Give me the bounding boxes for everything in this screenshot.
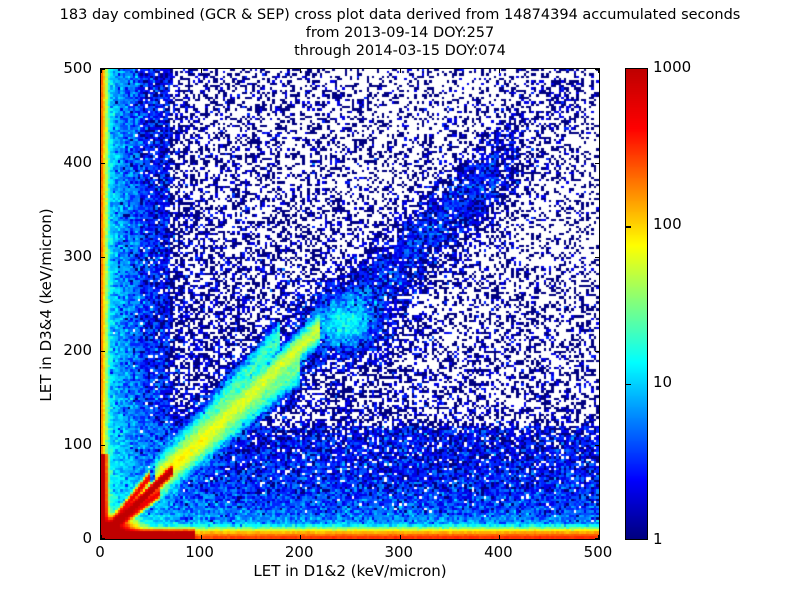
- colorbar-tick-label-1: 1: [653, 530, 663, 548]
- y-tick-right-300: [595, 257, 599, 258]
- y-tick-500: [101, 69, 105, 70]
- colorbar-tick-label-100: 100: [653, 215, 682, 233]
- colorbar-tick-10: [626, 384, 631, 385]
- figure-canvas: 183 day combined (GCR & SEP) cross plot …: [0, 0, 800, 600]
- x-tick-300: [400, 535, 401, 539]
- x-tick-top-200: [300, 69, 301, 73]
- x-tick-top-400: [499, 69, 500, 73]
- y-tick-0: [101, 538, 105, 539]
- y-tick-right-200: [595, 351, 599, 352]
- colorbar-tick-label-10: 10: [653, 373, 672, 391]
- colorbar-gradient: [626, 69, 647, 539]
- x-tick-100: [201, 535, 202, 539]
- y-tick-right-0: [595, 538, 599, 539]
- plot-title: 183 day combined (GCR & SEP) cross plot …: [0, 6, 800, 60]
- y-tick-200: [101, 351, 105, 352]
- x-tick-top-100: [201, 69, 202, 73]
- y-tick-300: [101, 257, 105, 258]
- title-line-1: 183 day combined (GCR & SEP) cross plot …: [0, 6, 800, 24]
- y-axis-label: LET in D3&4 (keV/micron): [37, 69, 55, 541]
- colorbar-tick-100: [626, 226, 631, 227]
- x-tick-label-400: 400: [458, 543, 538, 561]
- colorbar: [625, 68, 648, 540]
- y-tick-right-400: [595, 163, 599, 164]
- plot-area: [100, 68, 600, 540]
- x-tick-label-100: 100: [160, 543, 240, 561]
- x-axis-label: LET in D1&2 (keV/micron): [100, 562, 600, 580]
- colorbar-tick-label-1000: 1000: [653, 58, 691, 76]
- x-tick-label-300: 300: [359, 543, 439, 561]
- x-tick-200: [300, 535, 301, 539]
- title-line-2: from 2013-09-14 DOY:257: [0, 24, 800, 42]
- x-tick-label-200: 200: [259, 543, 339, 561]
- y-tick-right-100: [595, 445, 599, 446]
- x-tick-label-500: 500: [558, 543, 638, 561]
- density-scatter-plot: [101, 69, 599, 539]
- y-tick-400: [101, 163, 105, 164]
- x-tick-400: [499, 535, 500, 539]
- y-tick-right-500: [595, 69, 599, 70]
- x-tick-top-300: [400, 69, 401, 73]
- y-tick-100: [101, 445, 105, 446]
